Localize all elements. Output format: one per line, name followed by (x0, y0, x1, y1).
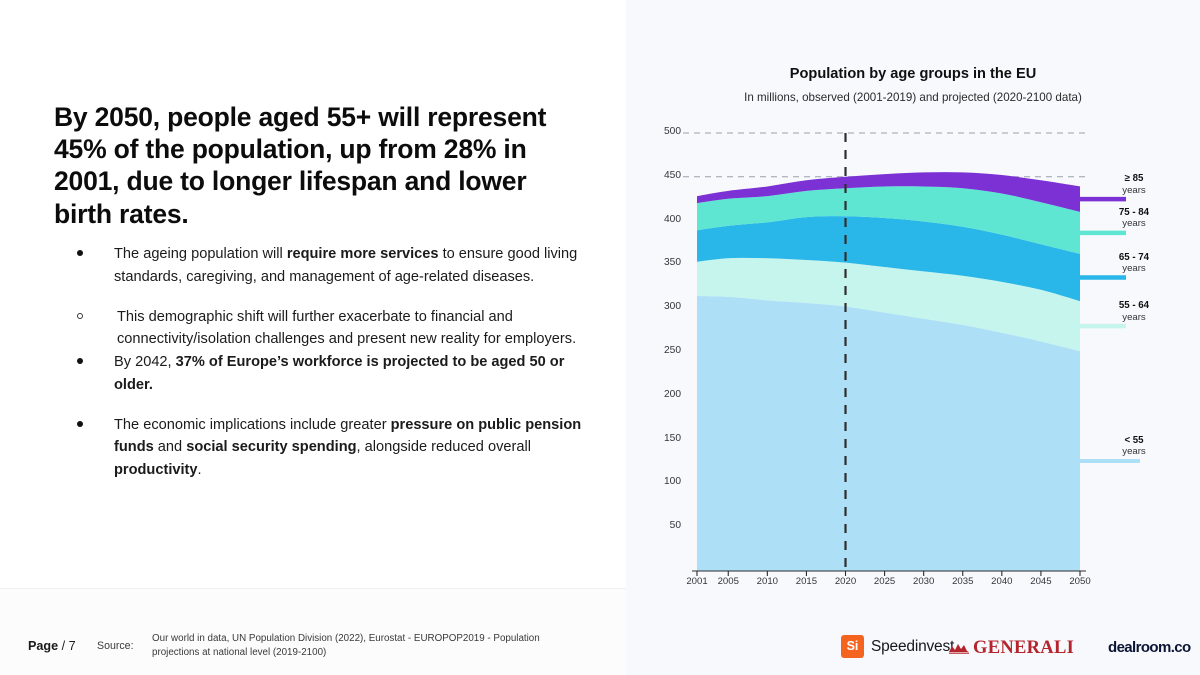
x-axis-tick-label: 2035 (943, 576, 983, 587)
legend-label-unit: years (1122, 218, 1145, 229)
legend-label-range: 65 - 74 (1099, 252, 1169, 263)
bullet-dot-icon (77, 250, 83, 256)
legend-label-unit: years (1122, 312, 1145, 323)
legend-label-range: 55 - 64 (1099, 300, 1169, 311)
page-title: By 2050, people aged 55+ will represent … (54, 101, 564, 230)
speedinvest-logo-text: Speedinvest (871, 638, 954, 656)
legend-label: 55 - 64years (1099, 300, 1169, 323)
list-item-text: This demographic shift will further exac… (117, 309, 576, 348)
legend-label: 65 - 74years (1099, 252, 1169, 275)
dealroom-logo-text: dealroom.co (1108, 639, 1191, 656)
y-axis-tick-label: 100 (639, 476, 681, 487)
generali-logo-text: GENERALI (973, 638, 1074, 659)
x-axis-tick-label: 2050 (1060, 576, 1100, 587)
legend-label-range: ≥ 85 (1099, 173, 1169, 184)
stacked-area-chart (626, 0, 1200, 675)
left-content-panel: By 2050, people aged 55+ will represent … (0, 0, 626, 675)
x-axis-tick-label: 2025 (865, 576, 905, 587)
chart-area-series (697, 172, 1080, 571)
page-indicator: Page / 7 (28, 639, 76, 653)
speedinvest-logo-mark: Si (841, 635, 864, 658)
page-number: / 7 (62, 639, 76, 653)
bullet-dot-icon (77, 421, 83, 427)
bullet-dot-icon (77, 358, 83, 364)
legend-label: ≥ 85years (1099, 173, 1169, 196)
y-axis-tick-label: 450 (639, 170, 681, 181)
x-axis-tick-label: 2010 (747, 576, 787, 587)
list-item: The ageing population will require more … (54, 243, 584, 289)
list-item: This demographic shift will further exac… (54, 306, 584, 352)
y-axis-tick-label: 350 (639, 257, 681, 268)
y-axis-tick-label: 500 (639, 126, 681, 137)
x-axis-tick-label: 2045 (1021, 576, 1061, 587)
y-axis-tick-label: 250 (639, 345, 681, 356)
x-axis-tick-label: 2005 (708, 576, 748, 587)
legend-connector-lines (1080, 199, 1140, 461)
x-axis-tick-label: 2020 (826, 576, 866, 587)
x-axis-tick-label: 2015 (786, 576, 826, 587)
partner-logos: Si Speedinvest GENERALI dealroom.co (626, 630, 1200, 666)
legend-label-unit: years (1122, 446, 1145, 457)
legend-label-range: < 55 (1099, 435, 1169, 446)
list-item: The economic implications include greate… (54, 414, 584, 482)
list-item-text: The ageing population will require more … (114, 246, 577, 285)
legend-label-range: 75 - 84 (1099, 207, 1169, 218)
bullet-ring-icon (77, 313, 83, 319)
page-word: Page (28, 639, 58, 653)
chart-gridlines (683, 133, 1085, 177)
list-item: By 2042, 37% of Europe’s workforce is pr… (54, 351, 584, 397)
legend-label: 75 - 84years (1099, 207, 1169, 230)
list-item-text: By 2042, 37% of Europe’s workforce is pr… (114, 354, 564, 393)
source-text: Our world in data, UN Population Divisio… (152, 632, 582, 660)
y-axis-tick-label: 400 (639, 214, 681, 225)
y-axis-tick-label: 50 (639, 520, 681, 531)
y-axis-tick-label: 200 (639, 389, 681, 400)
bullet-list: The ageing population will require more … (54, 243, 584, 499)
legend-label: < 55years (1099, 435, 1169, 458)
chart-panel: Population by age groups in the EU In mi… (626, 0, 1200, 675)
x-axis-tick-label: 2030 (904, 576, 944, 587)
y-axis-tick-label: 150 (639, 433, 681, 444)
y-axis-tick-label: 300 (639, 301, 681, 312)
source-label: Source: (97, 640, 134, 652)
list-item-text: The economic implications include greate… (114, 417, 581, 479)
x-axis-tick-label: 2040 (982, 576, 1022, 587)
legend-label-unit: years (1122, 185, 1145, 196)
legend-label-unit: years (1122, 263, 1145, 274)
generali-lion-icon (948, 641, 970, 654)
